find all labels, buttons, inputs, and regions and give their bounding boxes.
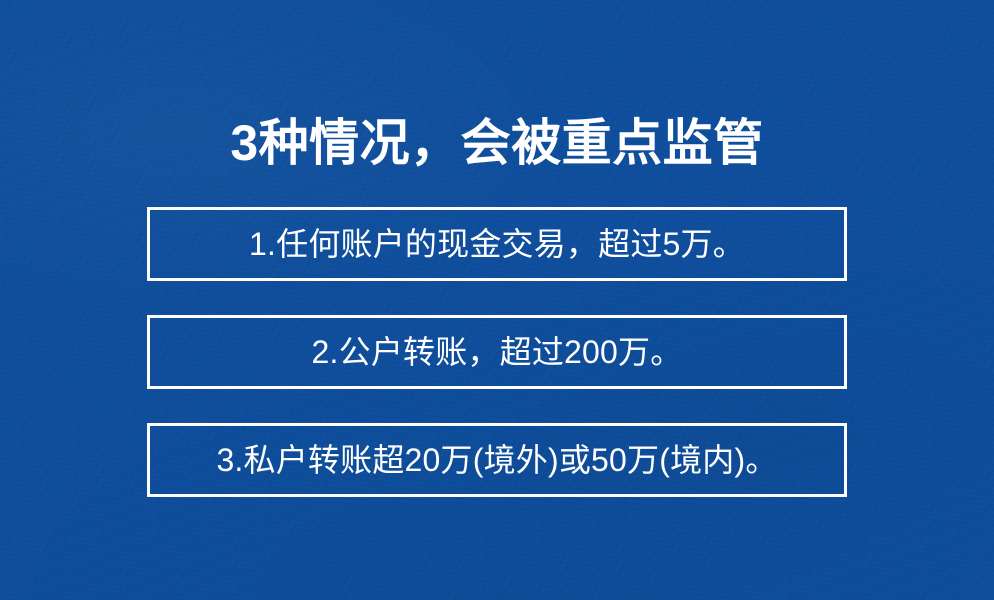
rule-text-1: 1.任何账户的现金交易，超过5万。 [249,224,745,264]
rule-text-2: 2.公户转账，超过200万。 [312,332,683,372]
poster-canvas: 3种情况，会被重点监管 1.任何账户的现金交易，超过5万。 2.公户转账，超过2… [0,0,994,600]
rule-box-1: 1.任何账户的现金交易，超过5万。 [147,207,847,281]
rule-box-2: 2.公户转账，超过200万。 [147,315,847,389]
rule-box-3: 3.私户转账超20万(境外)或50万(境内)。 [147,423,847,497]
rules-list: 1.任何账户的现金交易，超过5万。 2.公户转账，超过200万。 3.私户转账超… [147,207,847,497]
page-title: 3种情况，会被重点监管 [0,112,994,174]
rule-text-3: 3.私户转账超20万(境外)或50万(境内)。 [216,440,777,480]
